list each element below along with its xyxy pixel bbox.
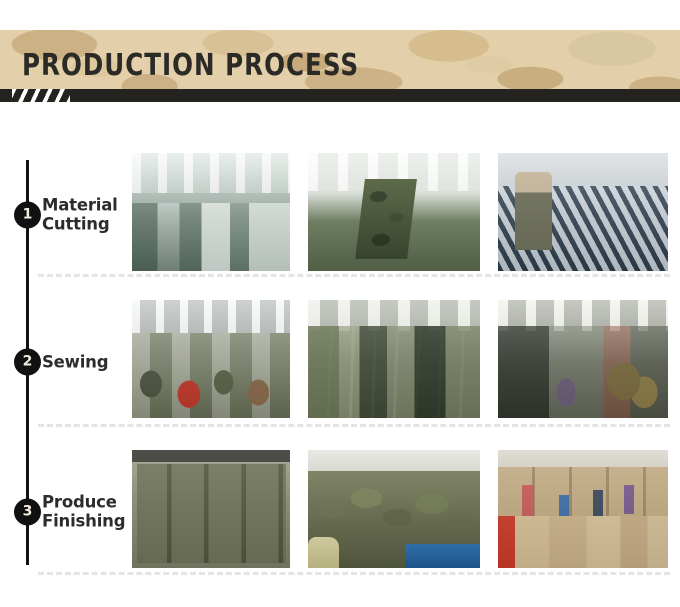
- process-photo: [308, 153, 480, 271]
- step-number-badge: 2: [14, 349, 41, 376]
- process-photo: [132, 300, 290, 418]
- page-title-text: PRODUCTION PROCESS: [22, 48, 359, 83]
- section-divider: [38, 424, 670, 427]
- process-step-row: 3 Produce Finishing: [0, 442, 680, 582]
- header-banner: PRODUCTION PROCESS: [0, 30, 680, 102]
- step-label-line1: Material: [42, 196, 128, 215]
- section-divider: [38, 274, 670, 277]
- process-step-row: 2 Sewing: [0, 292, 680, 432]
- process-photo: [498, 300, 668, 418]
- step-photo-gallery: [132, 300, 668, 418]
- process-photo: [132, 450, 290, 568]
- process-step-row: 1 Material Cutting: [0, 145, 680, 285]
- page-title: PRODUCTION PROCESS: [22, 48, 433, 83]
- production-process-page: PRODUCTION PROCESS 1 Material Cutting 2 …: [0, 0, 680, 607]
- step-photo-gallery: [132, 153, 668, 271]
- header-bottom-stripe: [0, 89, 680, 102]
- step-label-line1: Sewing: [42, 352, 128, 371]
- process-photo: [498, 450, 668, 568]
- section-divider: [38, 572, 670, 575]
- process-photo: [308, 300, 480, 418]
- step-label: Material Cutting: [42, 196, 128, 235]
- process-photo: [498, 153, 668, 271]
- process-photo: [308, 450, 480, 568]
- process-photo: [132, 153, 290, 271]
- step-label: Produce Finishing: [42, 493, 128, 532]
- step-label-line1: Produce: [42, 493, 128, 512]
- step-label-line2: Cutting: [42, 215, 128, 234]
- step-label-line2: Finishing: [42, 512, 128, 531]
- step-photo-gallery: [132, 450, 668, 568]
- step-number-badge: 3: [14, 499, 41, 526]
- step-label: Sewing: [42, 352, 128, 371]
- step-number-badge: 1: [14, 202, 41, 229]
